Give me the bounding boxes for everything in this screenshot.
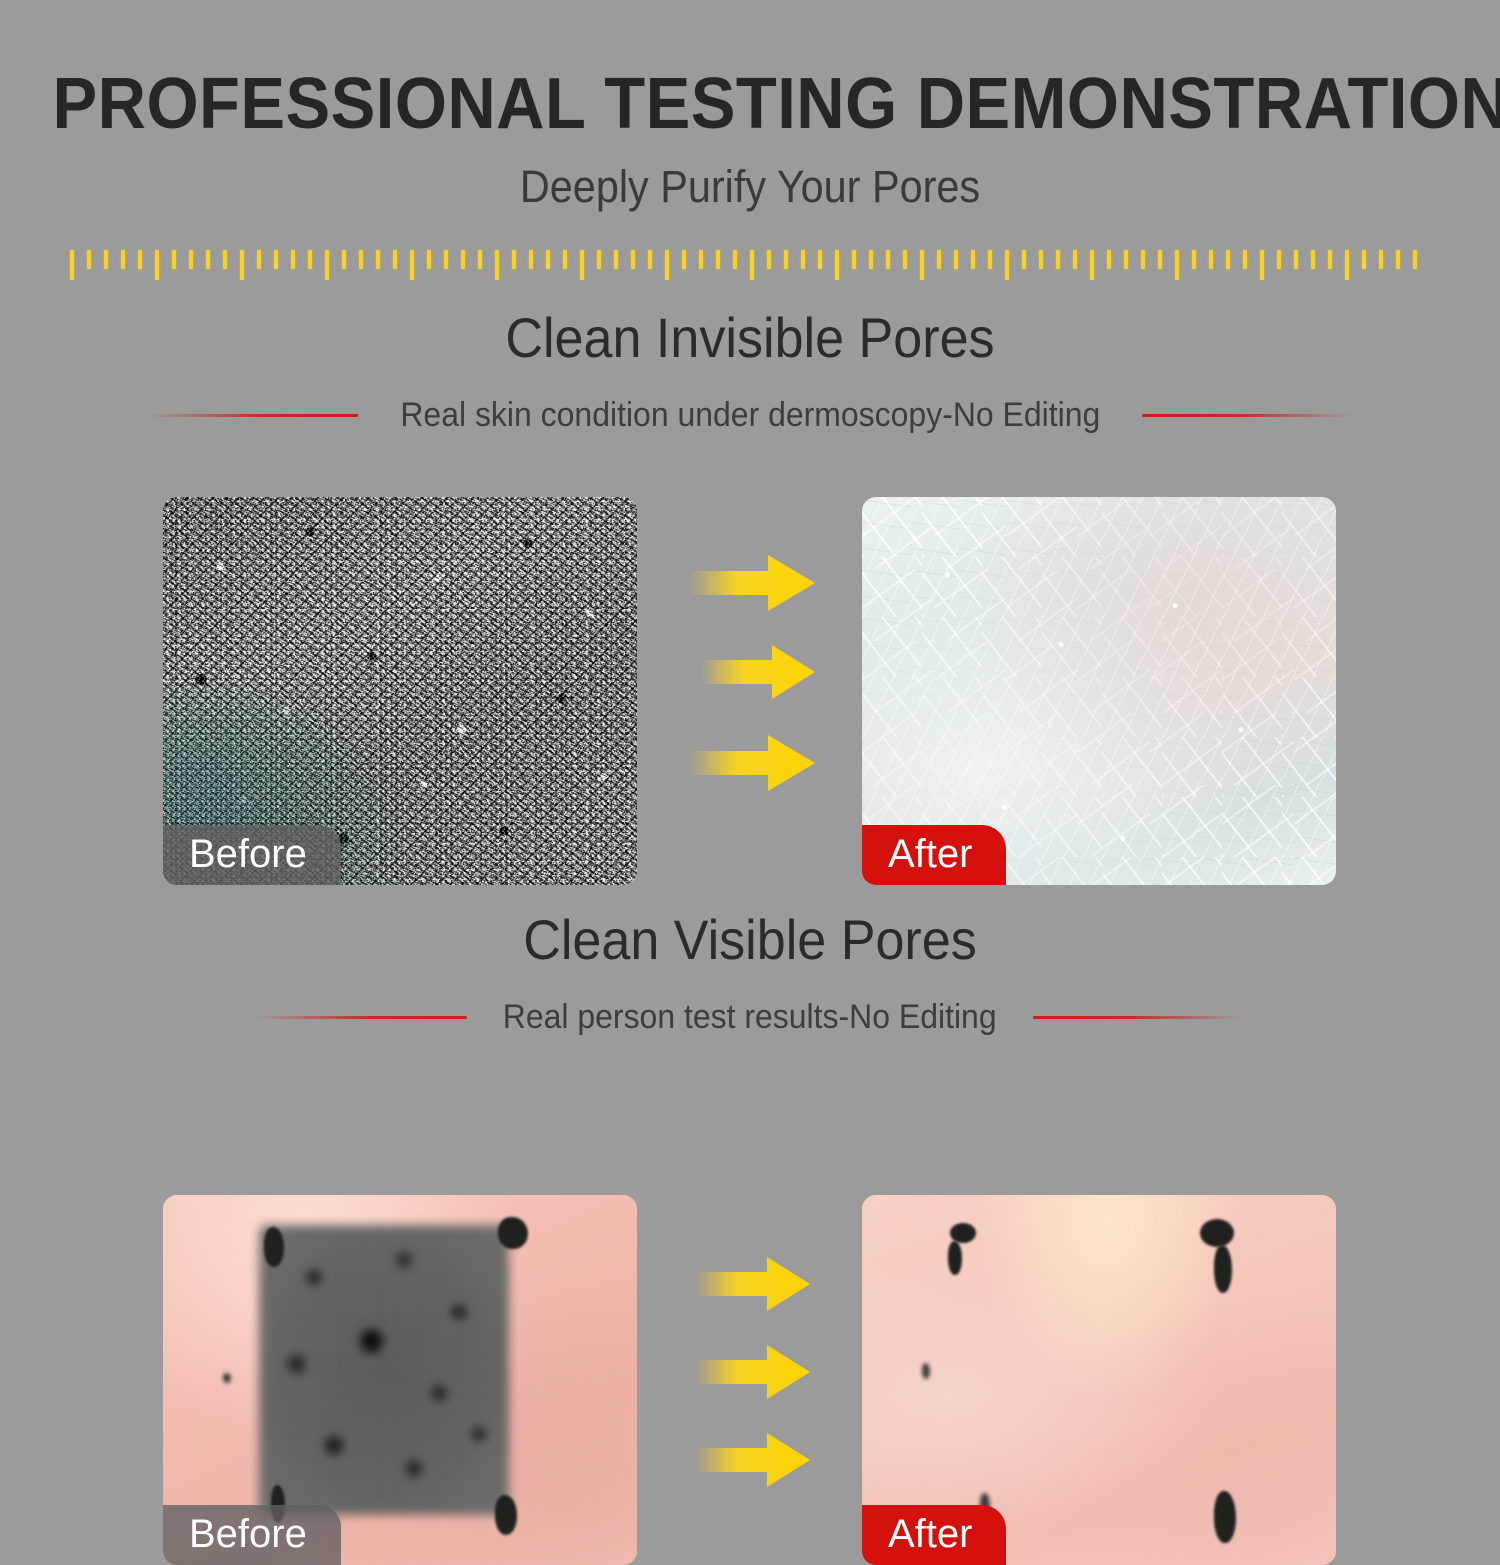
- caption-row-visible-pores: Real person test results-No Editing: [0, 998, 1500, 1037]
- blackhead-speck: [950, 1223, 976, 1243]
- ruler-tick-major: [325, 250, 329, 280]
- caption-rule-left: [257, 1016, 467, 1019]
- ruler-tick-minor: [461, 250, 465, 269]
- right-arrow-icon: [695, 1255, 810, 1313]
- blackhead-patch: [259, 1225, 509, 1515]
- before-image-invisible-pores: Before: [163, 497, 637, 885]
- blackhead-speck: [1214, 1491, 1236, 1543]
- right-arrow-icon: [695, 1431, 810, 1489]
- ruler-tick-minor: [1226, 250, 1230, 269]
- comparison-panels-invisible-pores: Before: [0, 435, 1500, 835]
- ruler-tick-major: [1005, 250, 1009, 280]
- ruler-tick-minor: [376, 250, 380, 269]
- ruler-tick-minor: [1056, 250, 1060, 269]
- ruler-tick-major: [495, 250, 499, 280]
- ruler-tick-minor: [1294, 250, 1298, 269]
- blackhead-speck: [922, 1363, 930, 1379]
- ruler-tick-minor: [172, 250, 176, 269]
- ruler-tick-minor: [563, 250, 567, 269]
- page-subtitle: Deeply Purify Your Pores: [60, 140, 1440, 209]
- blackhead-speck: [264, 1227, 284, 1267]
- ruler-tick-minor: [359, 250, 363, 269]
- ruler-tick-minor: [546, 250, 550, 269]
- caption-row-invisible-pores: Real skin condition under dermoscopy-No …: [0, 396, 1500, 435]
- ruler-tick-minor: [1124, 250, 1128, 269]
- blackhead-speck: [1214, 1245, 1232, 1293]
- ruler-tick-minor: [716, 250, 720, 269]
- ruler-tick-minor: [1379, 250, 1383, 269]
- ruler-tick-minor: [869, 250, 873, 269]
- arrow-group-visible-pores: [695, 1255, 825, 1515]
- caption-rule-left: [148, 414, 358, 417]
- blackhead-speck: [948, 1241, 962, 1275]
- ruler-tick-minor: [733, 250, 737, 269]
- page-header: PROFESSIONAL TESTING DEMONSTRATION Deepl…: [0, 0, 1500, 209]
- ruler-tick-major: [240, 250, 244, 280]
- ruler-tick-minor: [1209, 250, 1213, 269]
- ruler-tick-minor: [648, 250, 652, 269]
- ruler-tick-minor: [1362, 250, 1366, 269]
- ruler-tick-major: [1175, 250, 1179, 280]
- arrow-group-invisible-pores: [690, 553, 820, 833]
- ruler-tick-minor: [478, 250, 482, 269]
- ruler-tick-major: [920, 250, 924, 280]
- ruler-tick-minor: [342, 250, 346, 269]
- before-image-visible-pores: Before: [163, 1195, 637, 1565]
- right-arrow-icon: [700, 643, 815, 701]
- section-title-invisible-pores: Clean Invisible Pores: [53, 310, 1448, 366]
- ruler-tick-minor: [427, 250, 431, 269]
- ruler-tick-minor: [801, 250, 805, 269]
- section-visible-pores: Clean Visible Pores Real person test res…: [0, 912, 1500, 1437]
- ruler-tick-minor: [274, 250, 278, 269]
- ruler-tick-minor: [971, 250, 975, 269]
- after-image-invisible-pores: After: [862, 497, 1336, 885]
- right-arrow-icon: [695, 1343, 810, 1401]
- ruler-tick-minor: [631, 250, 635, 269]
- ruler-tick-minor: [444, 250, 448, 269]
- ruler-tick-minor: [886, 250, 890, 269]
- ruler-tick-minor: [291, 250, 295, 269]
- ruler-tick-minor: [1073, 250, 1077, 269]
- after-badge: After: [862, 1505, 1006, 1565]
- comparison-panels-visible-pores: Before: [0, 1037, 1500, 1437]
- ruler-tick-major: [1345, 250, 1349, 280]
- ruler-tick-minor: [512, 250, 516, 269]
- ruler-tick-minor: [223, 250, 227, 269]
- ruler-tick-minor: [1243, 250, 1247, 269]
- ruler-tick-minor: [1277, 250, 1281, 269]
- ruler-tick-minor: [1107, 250, 1111, 269]
- ruler-tick-major: [1260, 250, 1264, 280]
- caption-text-invisible-pores: Real skin condition under dermoscopy-No …: [400, 396, 1100, 435]
- ruler-divider: [70, 250, 1430, 284]
- ruler-tick-minor: [1039, 250, 1043, 269]
- page-title: PROFESSIONAL TESTING DEMONSTRATION: [53, 0, 1448, 140]
- ruler-tick-major: [835, 250, 839, 280]
- ruler-tick-major: [70, 250, 74, 280]
- ruler-tick-minor: [1158, 250, 1162, 269]
- ruler-tick-major: [750, 250, 754, 280]
- ruler-tick-minor: [138, 250, 142, 269]
- ruler-tick-minor: [852, 250, 856, 269]
- ruler-tick-minor: [1311, 250, 1315, 269]
- right-arrow-icon: [690, 733, 815, 793]
- ruler-tick-minor: [189, 250, 193, 269]
- ruler-tick-minor: [1022, 250, 1026, 269]
- caption-rule-right: [1142, 414, 1352, 417]
- section-title-visible-pores: Clean Visible Pores: [53, 912, 1448, 968]
- ruler-tick-minor: [1192, 250, 1196, 269]
- ruler-tick-minor: [529, 250, 533, 269]
- ruler-tick-minor: [682, 250, 686, 269]
- ruler-tick-minor: [784, 250, 788, 269]
- ruler-tick-minor: [1396, 250, 1400, 269]
- ruler-tick-minor: [1141, 250, 1145, 269]
- ruler-tick-major: [1090, 250, 1094, 280]
- ruler-tick-minor: [308, 250, 312, 269]
- blackhead-speck: [223, 1373, 231, 1383]
- ruler-tick-major: [665, 250, 669, 280]
- ruler-tick-major: [580, 250, 584, 280]
- ruler-tick-minor: [104, 250, 108, 269]
- caption-text-visible-pores: Real person test results-No Editing: [503, 998, 997, 1037]
- ruler-tick-minor: [937, 250, 941, 269]
- ruler-tick-major: [410, 250, 414, 280]
- ruler-tick-minor: [393, 250, 397, 269]
- after-badge: After: [862, 825, 1006, 885]
- ruler-tick-minor: [206, 250, 210, 269]
- ruler-tick-minor: [87, 250, 91, 269]
- ruler-tick-minor: [597, 250, 601, 269]
- blackhead-speck: [498, 1217, 528, 1249]
- section-invisible-pores: Clean Invisible Pores Real skin conditio…: [0, 310, 1500, 835]
- ruler-tick-minor: [614, 250, 618, 269]
- ruler-tick-minor: [767, 250, 771, 269]
- ruler-tick-minor: [257, 250, 261, 269]
- blackhead-speck: [495, 1495, 517, 1535]
- blackhead-speck: [1200, 1219, 1234, 1247]
- right-arrow-icon: [690, 553, 815, 613]
- ruler-tick-minor: [1413, 250, 1417, 269]
- before-badge: Before: [163, 825, 341, 885]
- ruler-tick-minor: [1328, 250, 1332, 269]
- ruler-tick-minor: [699, 250, 703, 269]
- after-image-visible-pores: After: [862, 1195, 1336, 1565]
- before-badge: Before: [163, 1505, 341, 1565]
- ruler-tick-major: [155, 250, 159, 280]
- ruler-tick-minor: [903, 250, 907, 269]
- caption-rule-right: [1033, 1016, 1243, 1019]
- ruler-tick-minor: [954, 250, 958, 269]
- ruler-tick-minor: [121, 250, 125, 269]
- ruler-tick-minor: [818, 250, 822, 269]
- ruler-tick-minor: [988, 250, 992, 269]
